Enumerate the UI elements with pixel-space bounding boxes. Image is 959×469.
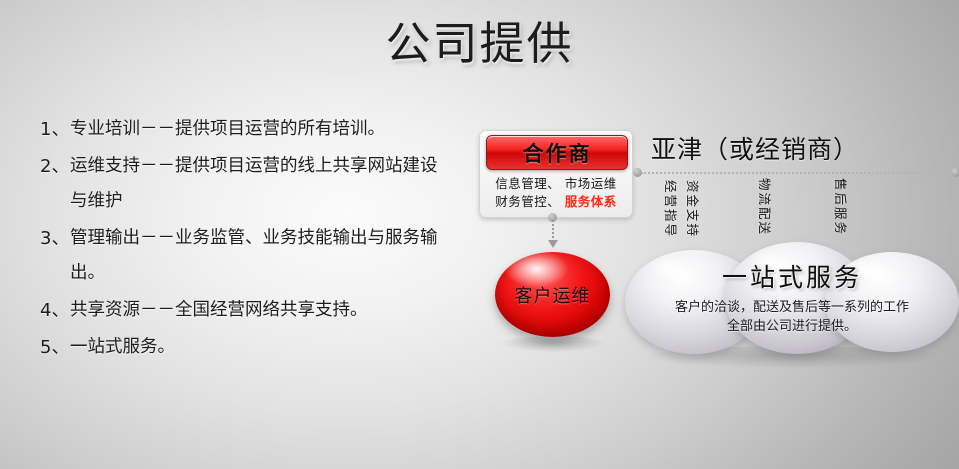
list-item-number: 3、 <box>40 221 70 256</box>
customer-operations-label: 客户运维 <box>515 282 591 308</box>
partner-services-line-1: 信息管理、 市场运维 <box>480 173 632 192</box>
brand-title: 亚津（或经销商） <box>651 130 951 166</box>
list-item-text: 一站式服务。 <box>70 330 440 365</box>
list-item-number: 5、 <box>40 330 70 365</box>
vertical-label-2: 资金支持 <box>684 180 703 238</box>
service-cloud-subtitle-line-1: 客户的洽谈，配送及售后等一系列的工作 <box>625 298 959 317</box>
feature-list: 1、 专业培训－－提供项目运营的所有培训。 2、 运维支持－－提供项目运营的线上… <box>40 112 440 367</box>
list-item-text: 运维支持－－提供项目运营的线上共享网站建设与维护 <box>70 149 440 219</box>
list-item-number: 4、 <box>40 293 70 328</box>
vertical-label-3: 物流配送 <box>756 178 775 236</box>
partner-button-label: 合作商 <box>523 138 592 168</box>
vertical-label-1: 经营指导 <box>662 180 681 238</box>
list-item-number: 2、 <box>40 149 70 184</box>
service-cloud: 一站式服务 客户的洽谈，配送及售后等一系列的工作 全部由公司进行提供。 <box>625 242 959 360</box>
partner-button[interactable]: 合作商 <box>486 135 628 170</box>
page-title: 公司提供 <box>0 16 959 72</box>
list-item: 1、 专业培训－－提供项目运营的所有培训。 <box>40 112 440 147</box>
list-item-text: 共享资源－－全国经营网络共享支持。 <box>70 293 440 328</box>
service-cloud-subtitle: 客户的洽谈，配送及售后等一系列的工作 全部由公司进行提供。 <box>625 298 959 336</box>
partner-services-emphasis: 服务体系 <box>565 194 617 209</box>
vertical-label-4: 售后服务 <box>832 178 851 236</box>
list-item: 4、 共享资源－－全国经营网络共享支持。 <box>40 293 440 328</box>
partner-card: 合作商 信息管理、 市场运维 财务管控、 服务体系 <box>479 130 633 218</box>
service-cloud-title: 一站式服务 <box>625 258 959 294</box>
list-item: 5、 一站式服务。 <box>40 330 440 365</box>
service-cloud-subtitle-line-2: 全部由公司进行提供。 <box>625 317 959 336</box>
list-item: 2、 运维支持－－提供项目运营的线上共享网站建设与维护 <box>40 149 440 219</box>
list-item-number: 1、 <box>40 112 70 147</box>
service-cloud-text: 一站式服务 客户的洽谈，配送及售后等一系列的工作 全部由公司进行提供。 <box>625 258 959 336</box>
list-item: 3、 管理输出－－业务监管、业务技能输出与服务输出。 <box>40 221 440 291</box>
list-item-text: 管理输出－－业务监管、业务技能输出与服务输出。 <box>70 221 440 291</box>
connector-node-right-end <box>951 168 959 177</box>
list-item-text: 专业培训－－提供项目运营的所有培训。 <box>70 112 440 147</box>
partner-services-plain: 财务管控、 <box>495 194 564 209</box>
slide-canvas: 公司提供 1、 专业培训－－提供项目运营的所有培训。 2、 运维支持－－提供项目… <box>0 0 959 469</box>
process-diagram: 合作商 信息管理、 市场运维 财务管控、 服务体系 客户运维 亚津（或经销商） … <box>455 108 959 408</box>
connector-horizontal-dotted <box>641 172 957 174</box>
customer-operations-ball[interactable]: 客户运维 <box>495 252 610 337</box>
connector-vertical-dotted <box>552 220 554 242</box>
partner-services-line-2: 财务管控、 服务体系 <box>480 191 632 210</box>
connector-arrow-down <box>548 240 558 248</box>
customer-ball-shadow <box>501 336 605 352</box>
